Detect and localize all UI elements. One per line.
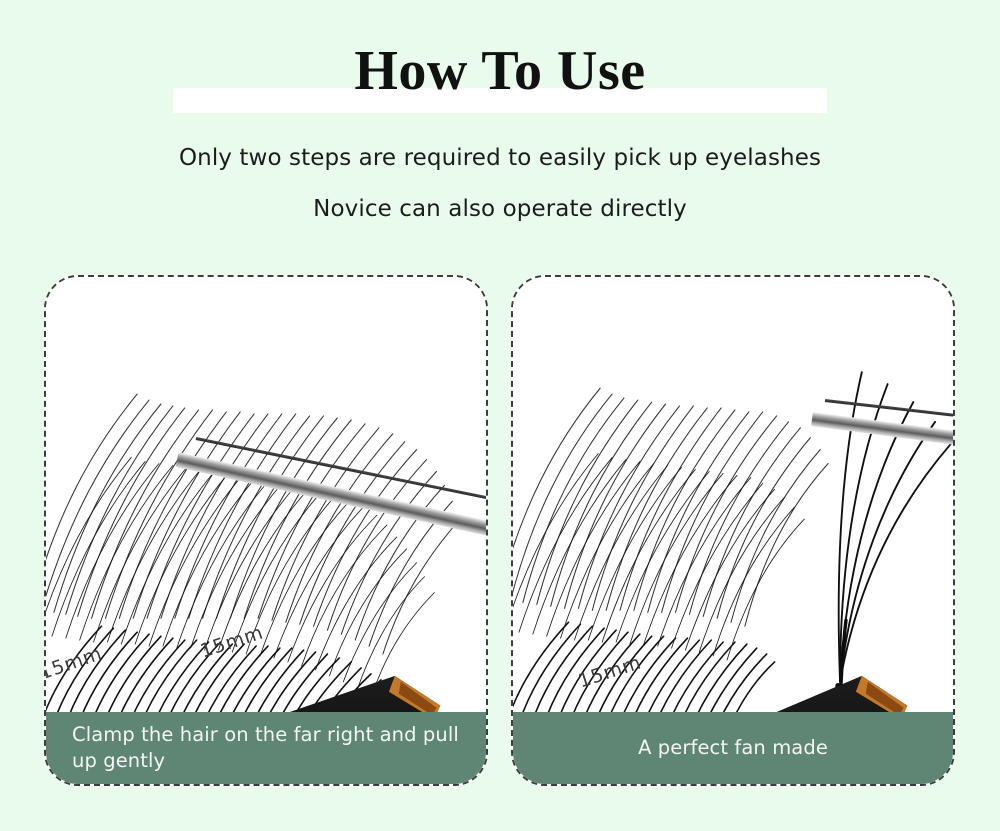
steps-panel-group: 15mm 15mm Clamp the hair on the far righ… <box>0 275 1000 787</box>
subtitle-line-1: Only two steps are required to easily pi… <box>0 133 1000 184</box>
step-1-caption-text: Clamp the hair on the far right and pull… <box>72 722 460 774</box>
step-1-caption-band: Clamp the hair on the far right and pull… <box>46 712 486 784</box>
eyelash-tray-illustration-1 <box>46 277 486 784</box>
step-1-photo: 15mm 15mm <box>46 277 486 784</box>
subtitle-line-2: Novice can also operate directly <box>0 184 1000 235</box>
step-2-caption-text: A perfect fan made <box>638 735 828 761</box>
step-panel-1[interactable]: 15mm 15mm Clamp the hair on the far righ… <box>44 275 488 786</box>
page-header: How To Use Only two steps are required t… <box>0 0 1000 240</box>
page-title: How To Use <box>0 38 1000 104</box>
eyelash-fan-illustration-2 <box>513 277 953 784</box>
subtitle-block: Only two steps are required to easily pi… <box>0 133 1000 235</box>
step-2-photo: 15mm <box>513 277 953 784</box>
step-2-caption-band: A perfect fan made <box>513 712 953 784</box>
step-panel-2[interactable]: 15mm A perfect fan made <box>511 275 955 786</box>
